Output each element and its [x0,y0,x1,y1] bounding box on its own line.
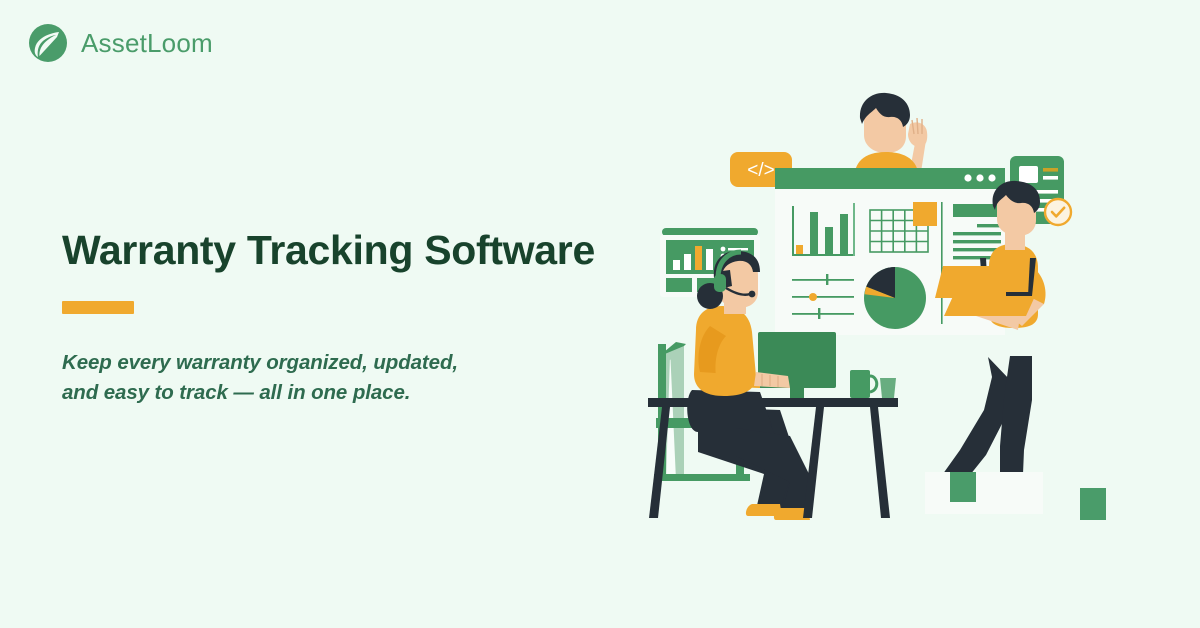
page-title: Warranty Tracking Software [62,228,622,274]
hero-subtitle: Keep every warranty organized, updated, … [62,348,622,407]
hero-banner: AssetLoom Warranty Tracking Software Kee… [0,0,1200,628]
monitor [758,332,836,403]
hero-copy: Warranty Tracking Software Keep every wa… [62,228,622,407]
hero-subtitle-line-1: Keep every warranty organized, updated, [62,351,458,374]
hero-illustration: </> [640,80,1140,550]
window-dot-2 [976,174,983,181]
leaf-circle-icon [26,21,70,65]
brand-name: AssetLoom [81,28,213,59]
hero-subtitle-line-2: and easy to track — all in one place. [62,381,410,404]
step-block-green-1 [950,472,976,502]
code-badge-label: </> [747,160,774,181]
step-block-green-2 [1080,488,1106,520]
verified-check-icon [1045,199,1071,225]
coffee-mug [850,370,877,398]
drinking-glass [880,378,896,398]
step-blocks [925,472,1106,520]
brand-logo[interactable]: AssetLoom [26,21,213,65]
window-dot-3 [988,174,995,181]
pie-chart-widget [864,267,926,329]
window-dot-1 [964,174,971,181]
accent-rule [62,301,134,314]
